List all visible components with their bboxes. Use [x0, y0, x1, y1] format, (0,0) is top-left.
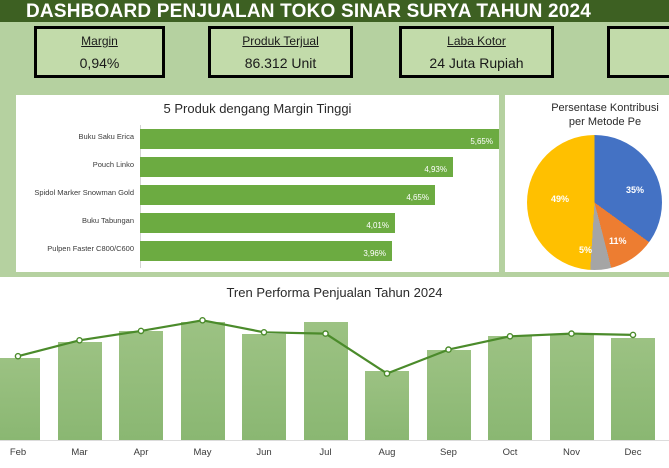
trend-line-marker[interactable]: [200, 318, 205, 323]
trend-chart-axis-line: [0, 440, 669, 441]
trend-x-axis-label: Jul: [304, 447, 348, 458]
trend-chart-panel: Tren Performa Penjualan Tahun 2024 FebMa…: [0, 277, 669, 468]
bar-category-label: Spidol Marker Snowman Gold: [16, 188, 134, 197]
trend-line-marker[interactable]: [323, 331, 328, 336]
pie-slice-label-yellow: 49%: [551, 194, 569, 204]
trend-line-series: [0, 307, 669, 440]
trend-chart-title: Tren Performa Penjualan Tahun 2024: [0, 285, 669, 300]
bar-fill[interactable]: 3,96%: [140, 241, 392, 261]
trend-line-marker[interactable]: [569, 331, 574, 336]
bar-value-label: 4,93%: [424, 165, 447, 174]
bar-chart-panel: 5 Produk dengang Margin Tinggi Buku Saku…: [16, 95, 499, 272]
bar-value-label: 5,65%: [470, 137, 493, 146]
pie-chart-plot-area: 35% 11% 5% 49%: [527, 135, 662, 270]
trend-x-axis-label: Dec: [611, 447, 655, 458]
bar-category-label: Pulpen Faster C800/C600: [16, 244, 134, 253]
pie-slice-label-grey: 5%: [579, 245, 592, 255]
bar-row: Buku Saku Erica5,65%: [16, 125, 499, 153]
bar-row: Pouch Linko4,93%: [16, 153, 499, 181]
trend-x-axis-label: Oct: [488, 447, 532, 458]
pie-slice-label-orange: 11%: [609, 236, 627, 246]
kpi-label: Rata: [610, 34, 669, 48]
dashboard-header: DASHBOARD PENJUALAN TOKO SINAR SURYA TAH…: [0, 0, 669, 22]
pie-chart-panel: Persentase Kontribusi per Metode Pe 35% …: [505, 95, 669, 272]
trend-x-axis-label: Apr: [119, 447, 163, 458]
bar-row: Buku Tabungan4,01%: [16, 209, 499, 237]
bar-value-label: 4,01%: [366, 221, 389, 230]
kpi-label: Laba Kotor: [402, 34, 551, 48]
trend-x-axis-label: Feb: [0, 447, 40, 458]
trend-x-axis-label: Mar: [58, 447, 102, 458]
bar-row: Spidol Marker Snowman Gold4,65%: [16, 181, 499, 209]
trend-line-marker[interactable]: [261, 330, 266, 335]
trend-line-marker[interactable]: [384, 371, 389, 376]
trend-x-axis-label: Aug: [365, 447, 409, 458]
kpi-value: 86.312 Unit: [211, 55, 350, 71]
kpi-value: 802: [610, 55, 669, 71]
bar-category-label: Buku Saku Erica: [16, 132, 134, 141]
kpi-card-produk-terjual[interactable]: Produk Terjual 86.312 Unit: [208, 26, 353, 78]
kpi-card-rata-rata[interactable]: Rata 802: [607, 26, 669, 78]
bar-chart-plot-area: Buku Saku Erica5,65%Pouch Linko4,93%Spid…: [16, 125, 499, 268]
trend-x-axis-label: Sep: [427, 447, 471, 458]
pie-slice-label-blue: 35%: [626, 185, 644, 195]
bar-track: 5,65%: [140, 125, 499, 153]
trend-line-marker[interactable]: [138, 328, 143, 333]
kpi-card-row: Margin 0,94% Produk Terjual 86.312 Unit …: [0, 26, 669, 84]
trend-x-axis-label: Nov: [550, 447, 594, 458]
bar-value-label: 4,65%: [406, 193, 429, 202]
bar-track: 4,93%: [140, 153, 499, 181]
bar-category-label: Pouch Linko: [16, 160, 134, 169]
bar-fill[interactable]: 4,93%: [140, 157, 453, 177]
trend-line-marker[interactable]: [507, 334, 512, 339]
pie-chart-title-line1: Persentase Kontribusi: [551, 102, 659, 114]
trend-line-marker[interactable]: [77, 338, 82, 343]
kpi-value: 0,94%: [37, 55, 162, 71]
bar-fill[interactable]: 4,01%: [140, 213, 395, 233]
kpi-label: Margin: [37, 34, 162, 48]
trend-x-axis-label: Jun: [242, 447, 286, 458]
bar-track: 4,01%: [140, 209, 499, 237]
pie-chart-title-line2: per Metode Pe: [569, 116, 641, 128]
pie-chart-title: Persentase Kontribusi per Metode Pe: [505, 101, 669, 129]
kpi-card-laba-kotor[interactable]: Laba Kotor 24 Juta Rupiah: [399, 26, 554, 78]
bar-track: 3,96%: [140, 237, 499, 265]
bar-fill[interactable]: 4,65%: [140, 185, 435, 205]
trend-x-axis-label: May: [181, 447, 225, 458]
bar-track: 4,65%: [140, 181, 499, 209]
kpi-label: Produk Terjual: [211, 34, 350, 48]
bar-category-label: Buku Tabungan: [16, 216, 134, 225]
trend-line-marker[interactable]: [446, 347, 451, 352]
trend-line-marker[interactable]: [630, 332, 635, 337]
bar-row: Pulpen Faster C800/C6003,96%: [16, 237, 499, 265]
kpi-value: 24 Juta Rupiah: [402, 55, 551, 71]
pie-circle[interactable]: [527, 135, 662, 270]
kpi-card-margin[interactable]: Margin 0,94%: [34, 26, 165, 78]
bar-fill[interactable]: 5,65%: [140, 129, 499, 149]
bar-value-label: 3,96%: [363, 249, 386, 258]
trend-line-marker[interactable]: [15, 354, 20, 359]
bar-chart-title: 5 Produk dengang Margin Tinggi: [16, 101, 499, 116]
trend-line-path: [18, 320, 633, 373]
page-title: DASHBOARD PENJUALAN TOKO SINAR SURYA TAH…: [26, 1, 591, 22]
